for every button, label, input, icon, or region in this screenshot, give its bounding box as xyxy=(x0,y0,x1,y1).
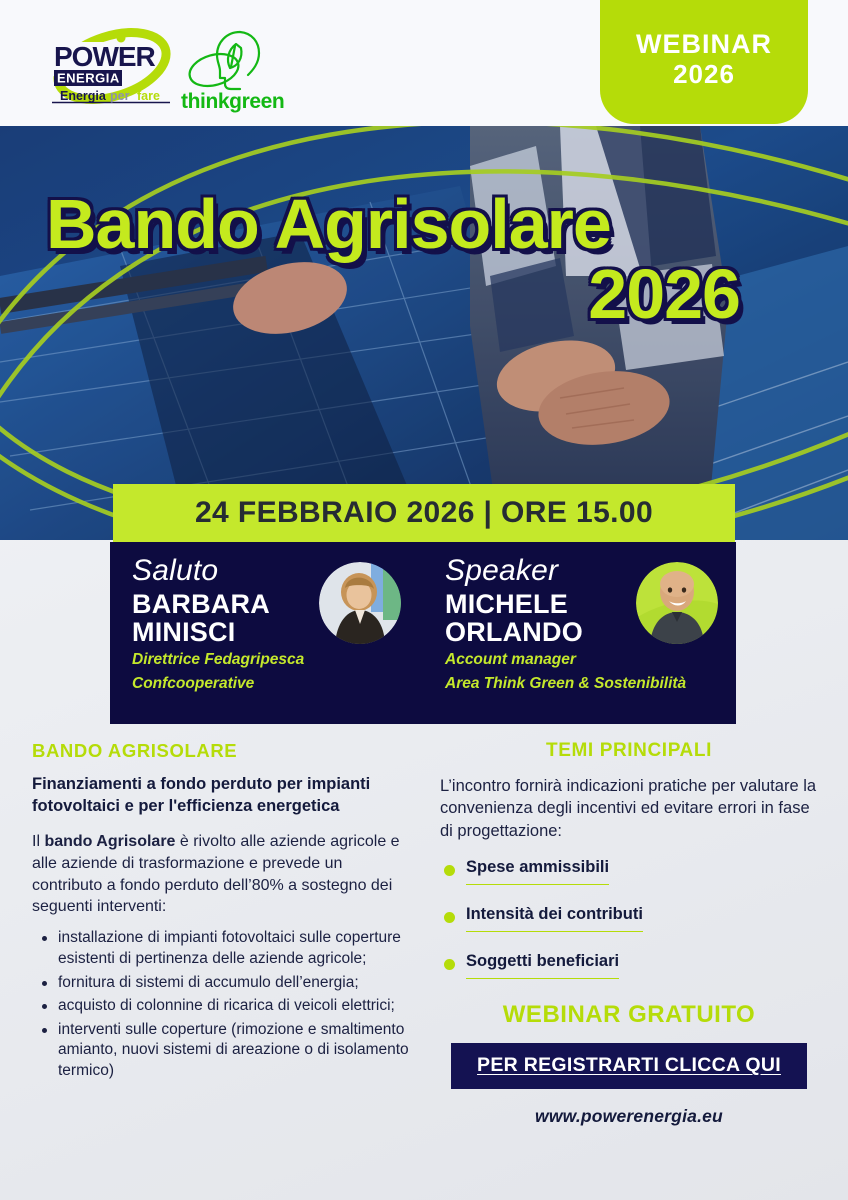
speaker-name-line1: MICHELE xyxy=(445,590,686,618)
hero-banner: Bando Agrisolare 2026 xyxy=(0,126,848,540)
speaker-name-line2: ORLANDO xyxy=(445,618,686,646)
webinar-badge: WEBINAR 2026 xyxy=(600,0,808,124)
speaker-name-line1: BARBARA xyxy=(132,590,304,618)
speakers-panel: Saluto BARBARA MINISCI Direttrice Fedagr… xyxy=(110,542,736,724)
list-item: acquisto di colonnine di ricarica di vei… xyxy=(36,996,412,1017)
left-column-heading: BANDO AGRISOLARE xyxy=(32,740,412,762)
poster-header: POWER ENERGIA Energia per fare POWER ENE… xyxy=(0,0,848,126)
speaker-role: Speaker xyxy=(445,556,686,586)
speaker-title-line2: Area Think Green & Sostenibilità xyxy=(445,675,686,694)
svg-text:POWER: POWER xyxy=(54,41,156,72)
bullet-dot-icon xyxy=(444,865,455,876)
speaker-title-line1: Account manager xyxy=(445,651,686,670)
topic-item: Spese ammissibili xyxy=(440,858,818,885)
speaker-name-line2: MINISCI xyxy=(132,618,304,646)
hero-title-line1: Bando Agrisolare xyxy=(46,190,746,259)
left-column: BANDO AGRISOLARE Finanziamenti a fondo p… xyxy=(32,740,412,1085)
avatar xyxy=(319,562,401,644)
svg-text:thinkgreen: thinkgreen xyxy=(181,90,284,113)
thinkgreen-logo: thinkgreen thinkgreen xyxy=(178,22,298,114)
list-item: fornitura di sistemi di accumulo dell’en… xyxy=(36,973,412,994)
bullet-dot-icon xyxy=(444,959,455,970)
cta-heading: WEBINAR GRATUITO xyxy=(440,1001,818,1029)
topic-label: Intensità dei contributi xyxy=(466,905,643,932)
speaker-title-line2: Confcooperative xyxy=(132,675,304,694)
content-columns: BANDO AGRISOLARE Finanziamenti a fondo p… xyxy=(0,740,848,1200)
right-column-heading: TEMI PRINCIPALI xyxy=(440,740,818,763)
svg-text:fare: fare xyxy=(137,89,160,103)
svg-text:Energia: Energia xyxy=(60,89,107,103)
poster-root: POWER ENERGIA Energia per fare POWER ENE… xyxy=(0,0,848,1200)
left-column-lead: Finanziamenti a fondo perduto per impian… xyxy=(32,774,412,818)
hero-title: Bando Agrisolare 2026 xyxy=(46,190,746,329)
list-item: interventi sulle coperture (rimozione e … xyxy=(36,1020,412,1082)
svg-text:ENERGIA: ENERGIA xyxy=(57,71,120,86)
speaker-card-speaker: Speaker MICHELE ORLANDO Account manager … xyxy=(423,542,736,724)
head-leaf-icon xyxy=(186,32,259,91)
power-energia-logo: POWER ENERGIA Energia per fare POWER ENE… xyxy=(38,22,188,114)
webinar-badge-line1: WEBINAR xyxy=(636,30,772,58)
register-button-label: PER REGISTRARTI CLICCA QUI xyxy=(477,1054,781,1077)
register-button[interactable]: PER REGISTRARTI CLICCA QUI xyxy=(451,1043,807,1089)
topic-label: Soggetti beneficiari xyxy=(466,952,619,979)
event-date-bar: 24 FEBBRAIO 2026 | ORE 15.00 xyxy=(113,484,735,542)
webinar-badge-line2: 2026 xyxy=(673,61,735,88)
website-url[interactable]: www.powerenergia.eu xyxy=(440,1106,818,1127)
speaker-title-line1: Direttrice Fedagripesca xyxy=(132,651,304,670)
svg-text:per: per xyxy=(110,89,130,103)
topic-label: Spese ammissibili xyxy=(466,858,609,885)
paragraph-bold: bando Agrisolare xyxy=(44,833,175,850)
left-column-bullet-list: installazione di impianti fotovoltaici s… xyxy=(36,928,412,1081)
paragraph-pre: Il xyxy=(32,833,44,850)
right-column-intro: L’incontro fornirà indicazioni pratiche … xyxy=(440,775,818,842)
speaker-role: Saluto xyxy=(132,556,304,586)
event-date-text: 24 FEBBRAIO 2026 | ORE 15.00 xyxy=(195,496,653,530)
bullet-dot-icon xyxy=(444,912,455,923)
right-column: TEMI PRINCIPALI L’incontro fornirà indic… xyxy=(440,740,818,1127)
hero-title-line2: 2026 xyxy=(46,259,746,329)
speaker-card-saluto: Saluto BARBARA MINISCI Direttrice Fedagr… xyxy=(110,542,423,724)
list-item: installazione di impianti fotovoltaici s… xyxy=(36,928,412,969)
left-column-paragraph: Il bando Agrisolare è rivolto alle azien… xyxy=(32,831,412,919)
topic-item: Intensità dei contributi xyxy=(440,905,818,932)
topic-item: Soggetti beneficiari xyxy=(440,952,818,979)
